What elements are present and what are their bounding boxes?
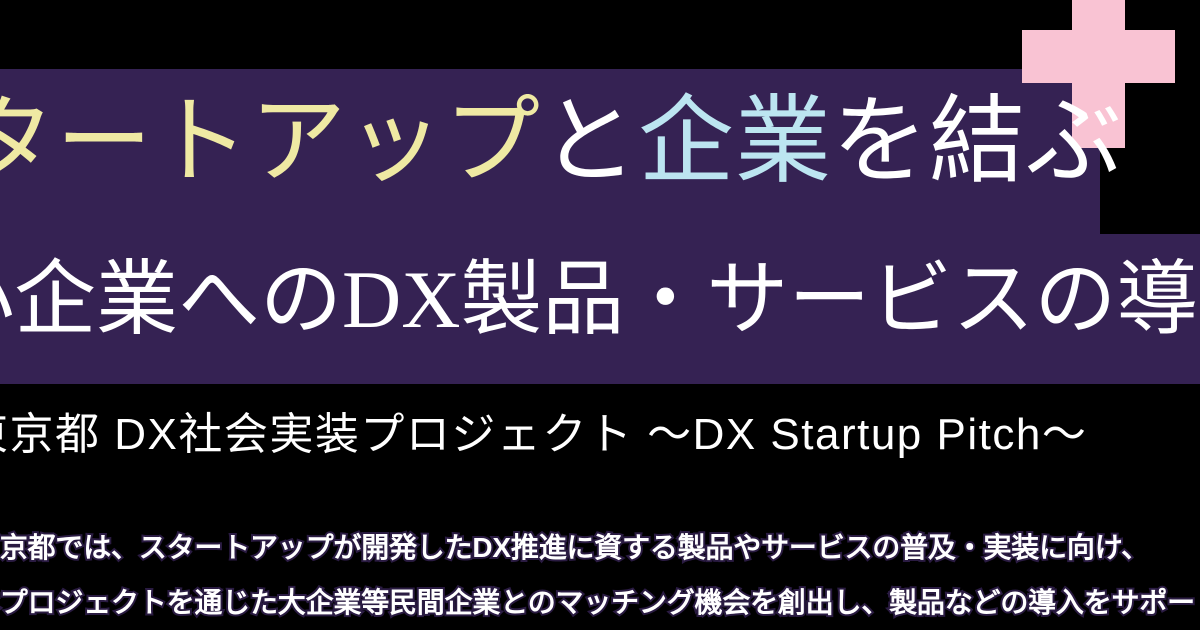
project-subtitle: 東京都 DX社会実装プロジェクト 〜DX Startup Pitch〜: [0, 407, 1200, 462]
headline-segment-musubu: を結ぶ: [832, 88, 1123, 195]
body-copy-line-2: 本プロジェクトを通じた大企業等民間企業とのマッチング機会を創出し、製品などの導入…: [0, 576, 1200, 630]
headline-line-1: スタートアップと企業を結ぶ: [0, 88, 1123, 196]
body-copy-line-1: 東京都では、スタートアップが開発したDX推進に資する製品やサービスの普及・実装に…: [0, 521, 1200, 576]
headline-line-2: 中小企業へのDX製品・サービスの導入をサポート: [0, 254, 1200, 346]
headline-segment-to: と: [541, 88, 638, 195]
headline-segment-startup: スタートアップ: [0, 88, 541, 195]
headline-segment-kigyou: 企業: [638, 88, 832, 195]
body-copy: 東京都では、スタートアップが開発したDX推進に資する製品やサービスの普及・実装に…: [0, 521, 1200, 630]
plus-icon-horizontal-bar: [1022, 30, 1175, 83]
banner-canvas: スタートアップと企業を結ぶ 中小企業へのDX製品・サービスの導入をサポート 東京…: [0, 0, 1200, 630]
